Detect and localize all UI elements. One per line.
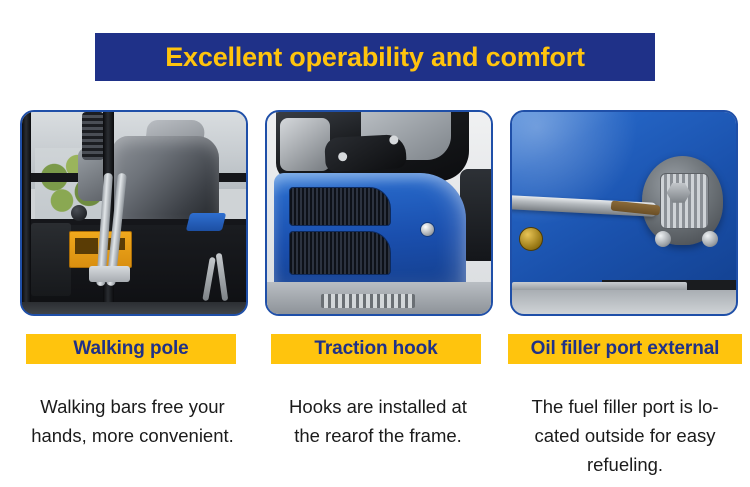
caption-label-traction-hook: Traction hook [314,338,437,360]
description-line: the rearof the frame. [258,421,498,450]
photo1-operator-seat [112,136,220,221]
caption-row: Walking pole Traction hook Oil filler po… [0,334,750,364]
description-walking-pole: Walking bars free your hands, more conve… [10,392,255,450]
photo2-mesh-grille-lower [289,231,391,275]
description-traction-hook: Hooks are installed at the rearof the fr… [258,392,498,450]
photo2-blue-engine-cover [274,173,467,290]
description-line: The fuel filler port is lo- [503,392,747,421]
title-banner: Excellent operability and comfort [95,33,655,81]
photo2-cover-fastener [420,222,435,237]
photo-walking-pole-illustration [22,112,246,314]
description-oil-filler-port: The fuel filler port is lo- cated outsid… [503,392,747,479]
photo2-mesh-grille-upper [289,187,391,226]
photo1-pole-footplate [89,266,129,282]
photo1-blue-trim-tab [185,213,225,231]
caption-badge-traction-hook: Traction hook [271,334,481,364]
feature-photo-traction-hook [265,110,493,316]
photo1-side-panel-box [31,223,71,296]
feature-photo-oil-filler-port [510,110,738,316]
description-line: Walking bars free your [10,392,255,421]
description-line: refueling. [503,450,747,479]
photo2-base-vents [321,294,415,308]
caption-badge-walking-pole: Walking pole [26,334,236,364]
caption-badge-oil-filler-port: Oil filler port external [508,334,742,364]
photo-traction-hook-illustration [267,112,491,314]
feature-photo-walking-pole [20,110,248,316]
photo2-hook-mounting-plate [324,134,406,173]
description-line: hands, more convenient. [10,421,255,450]
photo1-ground [22,302,246,314]
page-title: Excellent operability and comfort [165,42,585,73]
photo1-coil-spring [82,112,104,160]
caption-label-walking-pole: Walking pole [73,338,188,360]
photo3-floor [512,290,736,314]
photo3-brass-bolt [519,227,543,251]
description-row: Walking bars free your hands, more conve… [0,392,750,487]
feature-photo-row [0,110,750,318]
description-line: Hooks are installed at [258,392,498,421]
photo1-frame-post-left [22,112,31,314]
photo2-plastic-wrap [280,118,329,171]
caption-label-oil-filler-port: Oil filler port external [531,338,720,360]
photo-oil-filler-port-illustration [512,112,736,314]
description-line: cated outside for easy [503,421,747,450]
